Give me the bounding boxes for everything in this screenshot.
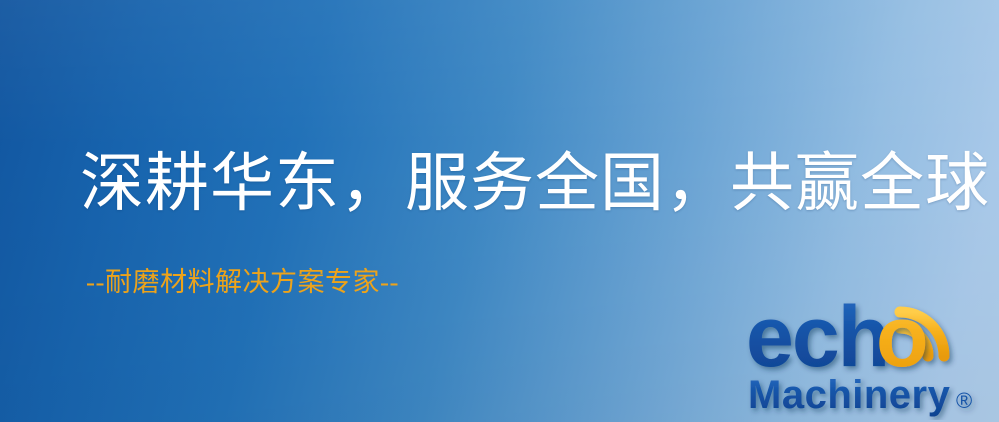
logo-wordmark-ech: ech bbox=[746, 289, 888, 385]
banner-headline: 深耕华东，服务全国，共赢全球 bbox=[80, 148, 990, 220]
registered-trademark-icon: ® bbox=[956, 388, 972, 413]
logo-artwork: ech o Machinery ® bbox=[744, 288, 996, 420]
hero-banner: 深耕华东，服务全国，共赢全球 --耐磨材料解决方案专家-- bbox=[0, 0, 999, 422]
logo-tagline: Machinery bbox=[748, 373, 951, 417]
banner-subtitle: --耐磨材料解决方案专家-- bbox=[86, 266, 399, 298]
logo-wordmark-o: o bbox=[876, 289, 929, 385]
echo-machinery-logo[interactable]: ech o Machinery ® bbox=[744, 288, 996, 420]
